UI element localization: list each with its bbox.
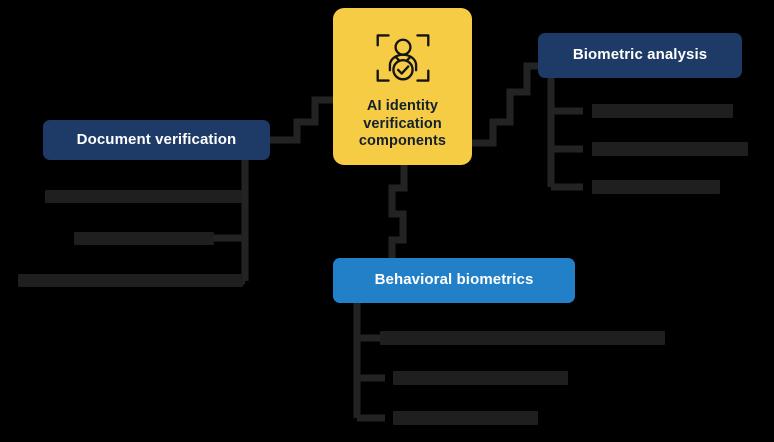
redacted-item-biometric-analysis-1 bbox=[592, 104, 733, 118]
node-document-verification[interactable]: Document verification bbox=[43, 120, 270, 160]
redacted-item-behavioral-biometrics-3 bbox=[393, 411, 538, 425]
redacted-item-behavioral-biometrics-2 bbox=[393, 371, 568, 385]
node-label: Biometric analysis bbox=[573, 46, 707, 64]
redacted-item-behavioral-biometrics-1 bbox=[380, 331, 665, 345]
node-biometric-analysis[interactable]: Biometric analysis bbox=[538, 33, 742, 78]
wire-center-to-document bbox=[270, 100, 333, 140]
face-scan-verified-icon bbox=[374, 30, 432, 86]
wire-center-to-behavioral bbox=[392, 165, 404, 258]
wire-center-to-biometric bbox=[472, 66, 538, 143]
diagram-canvas: AI identity verification components Docu… bbox=[0, 0, 774, 442]
redacted-item-biometric-analysis-3 bbox=[592, 180, 720, 194]
redacted-item-document-verification-1 bbox=[45, 190, 242, 203]
node-ai-identity-verification-components[interactable]: AI identity verification components bbox=[333, 8, 472, 165]
redacted-item-document-verification-3 bbox=[18, 274, 243, 287]
node-behavioral-biometrics[interactable]: Behavioral biometrics bbox=[333, 258, 575, 303]
node-label: Document verification bbox=[77, 131, 237, 149]
node-label: Behavioral biometrics bbox=[375, 271, 534, 289]
redacted-item-document-verification-2 bbox=[74, 232, 214, 245]
node-label: AI identity verification components bbox=[333, 98, 472, 151]
redacted-item-biometric-analysis-2 bbox=[592, 142, 748, 156]
